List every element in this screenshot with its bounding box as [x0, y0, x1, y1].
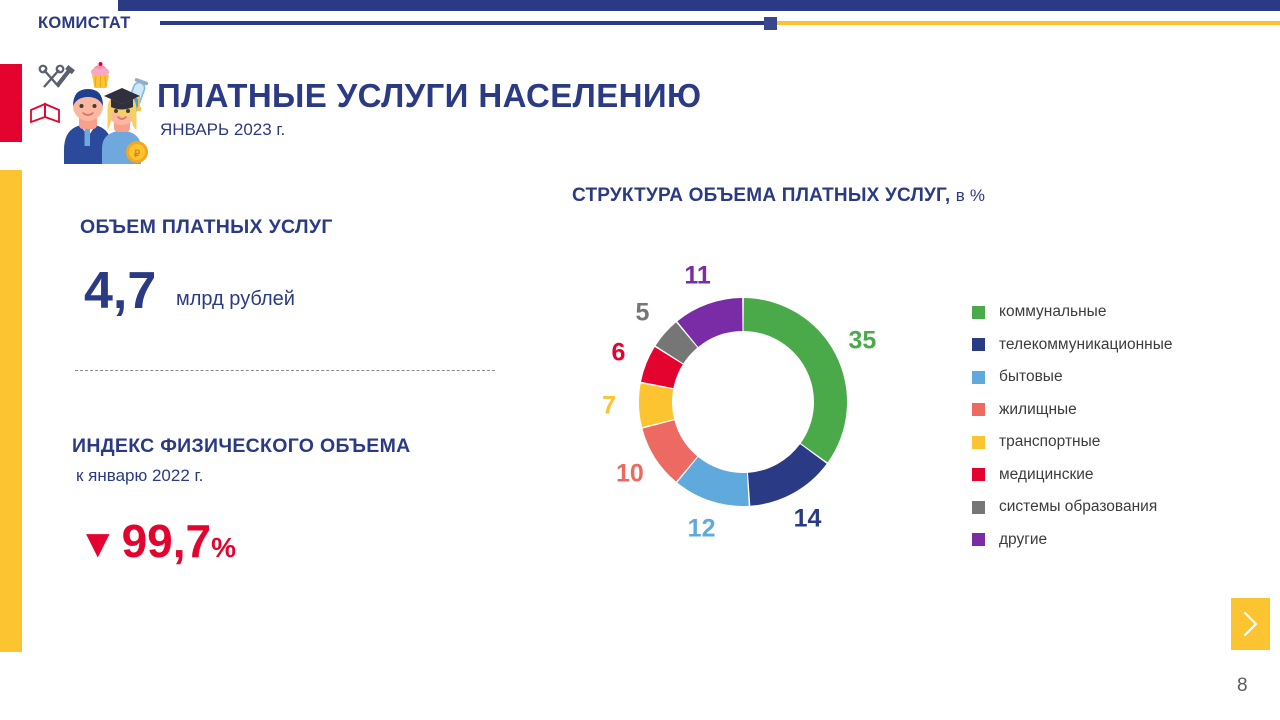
header-rule-yellow [777, 21, 1280, 25]
donut-slice [744, 298, 847, 462]
chart-title: СТРУКТУРА ОБЪЕМА ПЛАТНЫХ УСЛУГ, в % [572, 185, 985, 207]
slide-root: КОМИСТАТ [0, 0, 1280, 720]
donut-slice-label: 10 [616, 459, 644, 488]
legend-swatch-icon [972, 338, 985, 351]
kpi-index-value-group: ▼ 99,7 % [78, 518, 236, 564]
legend-item[interactable]: жилищные [972, 394, 1262, 427]
donut-slice-label: 14 [794, 505, 822, 534]
edge-block-red [0, 64, 22, 142]
kpi-index-value: 99,7 [122, 518, 212, 564]
trend-down-arrow-icon: ▼ [78, 524, 118, 564]
donut-slice-label: 12 [688, 515, 716, 544]
header-rule-marker [764, 17, 777, 30]
legend-swatch-icon [972, 403, 985, 416]
donut-slice [639, 383, 674, 427]
kpi-volume-value: 4,7 [84, 265, 156, 317]
next-slide-button[interactable] [1231, 598, 1270, 650]
legend-label: жилищные [999, 401, 1077, 419]
legend-swatch-icon [972, 468, 985, 481]
header-top-bar [118, 0, 1280, 11]
legend-swatch-icon [972, 501, 985, 514]
legend-swatch-icon [972, 371, 985, 384]
legend-label: коммунальные [999, 303, 1106, 321]
page-title: ПЛАТНЫЕ УСЛУГИ НАСЕЛЕНИЮ [157, 77, 701, 115]
page-number: 8 [1237, 675, 1248, 697]
donut-slice [748, 444, 827, 506]
services-people-illustration: ₽ [26, 60, 158, 164]
legend-item[interactable]: другие [972, 524, 1262, 557]
donut-chart [563, 222, 923, 582]
chart-legend: коммунальныетелекоммуникационныебытовыеж… [972, 296, 1262, 556]
legend-label: системы образования [999, 498, 1157, 516]
legend-label: другие [999, 531, 1047, 549]
legend-item[interactable]: системы образования [972, 491, 1262, 524]
legend-item[interactable]: бытовые [972, 361, 1262, 394]
kpi-index-sublabel: к январю 2022 г. [76, 466, 203, 486]
donut-slice-label: 11 [684, 261, 710, 290]
kpi-index-percent-sign: % [211, 534, 236, 562]
donut-slice-label: 35 [848, 327, 876, 356]
legend-swatch-icon [972, 306, 985, 319]
legend-item[interactable]: коммунальные [972, 296, 1262, 329]
kpi-index-label: ИНДЕКС ФИЗИЧЕСКОГО ОБЪЕМА [72, 435, 411, 458]
legend-swatch-icon [972, 436, 985, 449]
legend-label: телекоммуникационные [999, 336, 1173, 354]
chart-title-unit: в % [956, 186, 985, 205]
legend-label: медицинские [999, 466, 1094, 484]
donut-slice-label: 6 [611, 338, 625, 367]
edge-block-yellow [0, 170, 22, 652]
donut-slice-label: 5 [636, 299, 650, 328]
chart-title-text: СТРУКТУРА ОБЪЕМА ПЛАТНЫХ УСЛУГ, [572, 185, 950, 206]
legend-swatch-icon [972, 533, 985, 546]
legend-item[interactable]: медицинские [972, 459, 1262, 492]
panel-divider [75, 370, 495, 371]
komistat-logo: КОМИСТАТ [38, 14, 131, 33]
header-rule-blue [160, 21, 772, 25]
legend-label: транспортные [999, 433, 1100, 451]
legend-label: бытовые [999, 368, 1063, 386]
chevron-right-icon [1242, 611, 1259, 637]
kpi-volume-label: ОБЪЕМ ПЛАТНЫХ УСЛУГ [80, 216, 333, 239]
kpi-volume-unit: млрд рублей [176, 288, 295, 311]
donut-slice-label: 7 [602, 392, 616, 421]
page-subtitle: ЯНВАРЬ 2023 г. [160, 120, 285, 140]
svg-text:₽: ₽ [134, 149, 141, 160]
legend-item[interactable]: транспортные [972, 426, 1262, 459]
legend-item[interactable]: телекоммуникационные [972, 329, 1262, 362]
